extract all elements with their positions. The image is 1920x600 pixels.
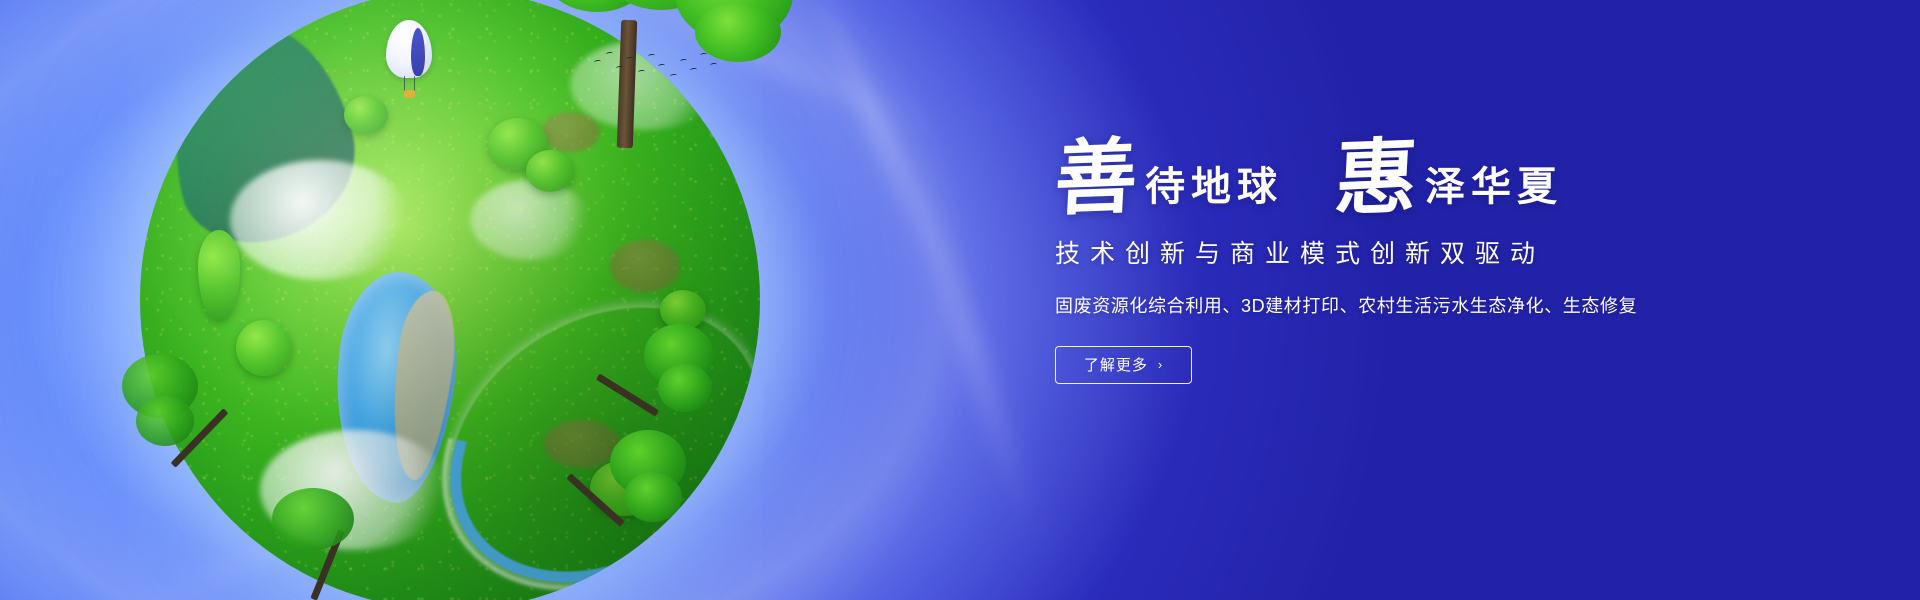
rim-tree-left-1 <box>118 348 228 498</box>
headline-char-hui: 惠 <box>1333 139 1419 220</box>
bird <box>700 53 707 58</box>
bird <box>616 66 623 71</box>
bird <box>680 59 687 64</box>
rim-tree-canopy <box>272 488 354 550</box>
hero-subtitle: 技术创新与商业模式创新双驱动 <box>1055 234 1675 270</box>
globe-cloud-1 <box>230 160 410 280</box>
headline-text-zehuaxia: 泽华夏 <box>1425 167 1563 207</box>
globe-bush-4 <box>198 230 240 320</box>
bird-flock <box>592 48 722 94</box>
globe-cloud-3 <box>470 180 590 260</box>
lake <box>324 266 465 507</box>
globe-bush-3 <box>526 150 574 192</box>
lake-shore <box>381 287 463 483</box>
bird <box>594 60 601 65</box>
dirt-patch-2 <box>610 240 680 292</box>
learn-more-button[interactable]: 了解更多 › <box>1055 346 1192 384</box>
bird <box>638 70 645 75</box>
globe-bush-2 <box>488 118 548 170</box>
balloon-envelope <box>386 20 432 78</box>
page-title: 善 待地球 惠 泽华夏 <box>1055 140 1675 218</box>
hero-description: 固废资源化综合利用、3D建材打印、农村生活污水生态净化、生态修复 <box>1055 292 1675 318</box>
globe-bush-5 <box>236 320 292 376</box>
globe-bush-1 <box>344 96 388 134</box>
bird <box>690 68 697 73</box>
bird <box>658 64 665 69</box>
hero-banner: 善 待地球 惠 泽华夏 技术创新与商业模式创新双驱动 固废资源化综合利用、3D建… <box>0 0 1920 600</box>
cloud-streak-4 <box>893 139 1048 546</box>
headline-text-daidiqiu: 待地球 <box>1145 167 1283 207</box>
cloud-streak-3 <box>796 0 964 301</box>
headline-char-shan: 善 <box>1053 139 1139 220</box>
hero-content: 善 待地球 惠 泽华夏 技术创新与商业模式创新双驱动 固废资源化综合利用、3D建… <box>1055 140 1675 384</box>
bird <box>606 52 613 57</box>
rim-tree-canopy-2 <box>624 472 682 522</box>
hot-air-balloon <box>386 20 432 104</box>
rim-tree-canopy-2 <box>136 396 194 446</box>
rim-tree-right-2 <box>584 420 694 560</box>
bird <box>648 54 655 59</box>
bird <box>670 74 677 79</box>
chevron-right-icon: › <box>1158 358 1163 371</box>
bird <box>710 63 717 68</box>
rim-tree-canopy-2 <box>658 364 712 412</box>
rim-tree-bottom-1 <box>260 488 370 600</box>
balloon-ropes <box>404 76 415 91</box>
bird <box>626 57 633 62</box>
learn-more-label: 了解更多 <box>1084 354 1148 375</box>
balloon-basket <box>404 90 415 98</box>
